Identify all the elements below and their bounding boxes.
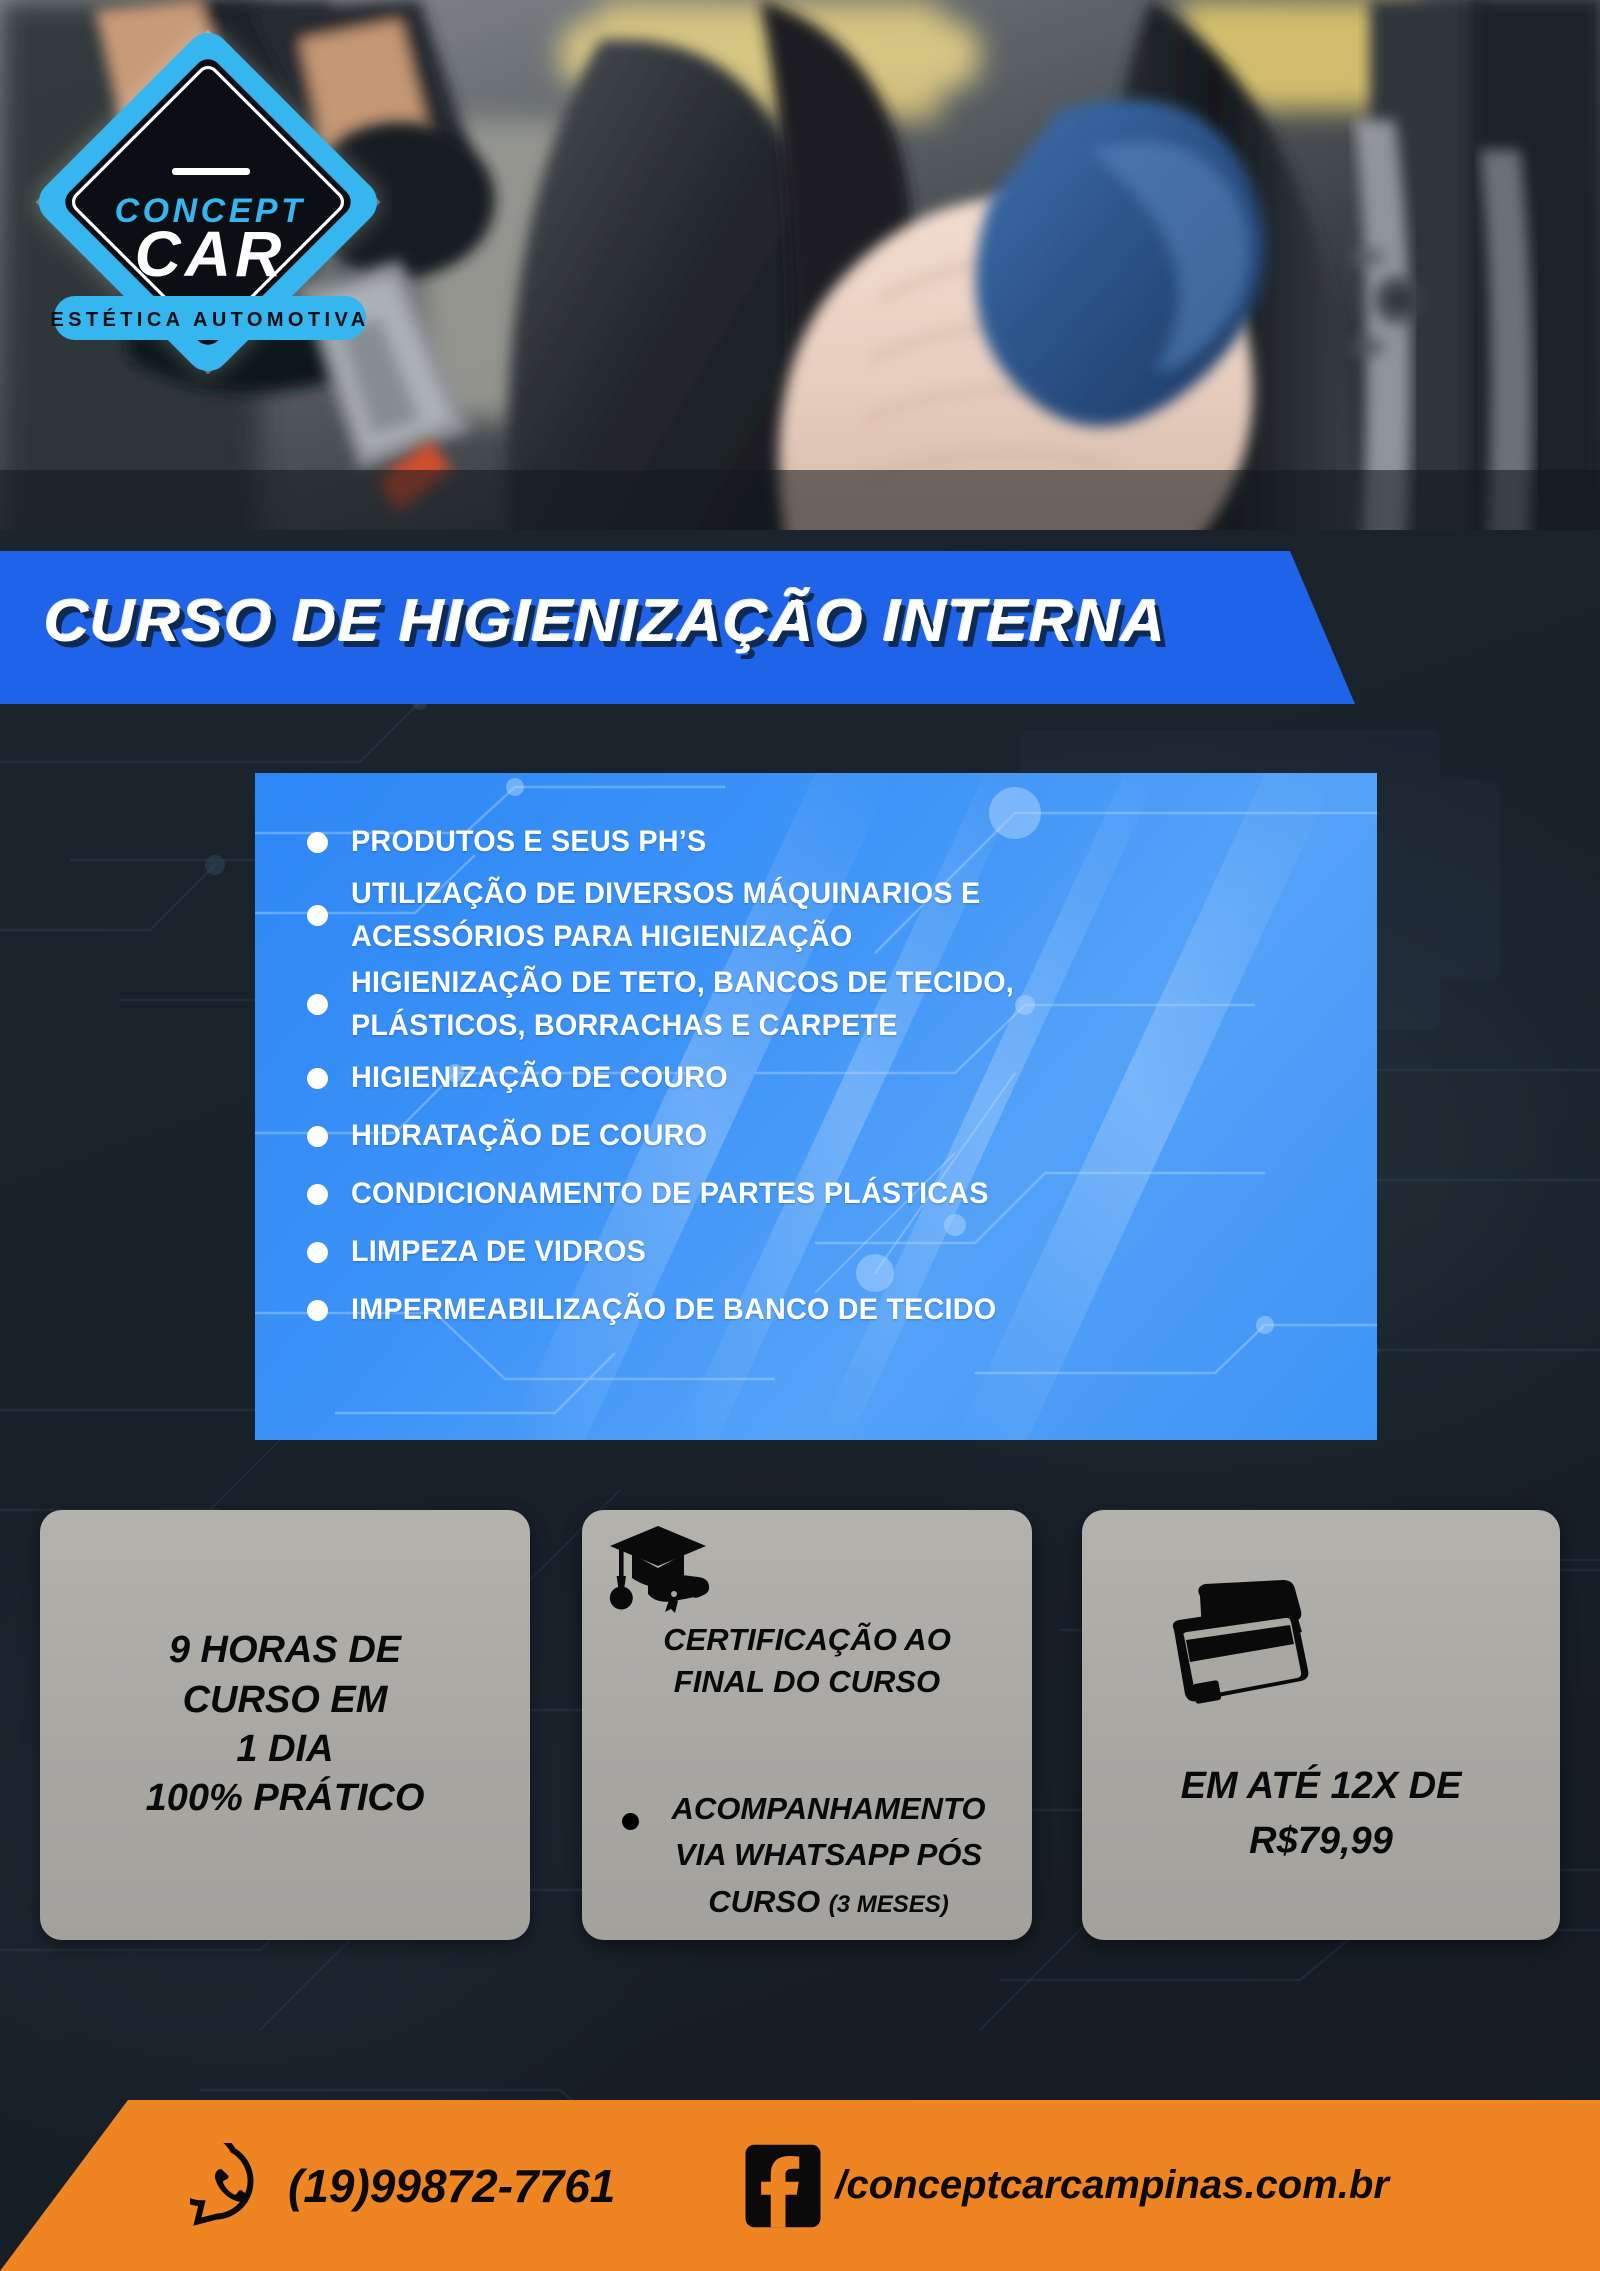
list-item-label: UTILIZAÇÃO DE DIVERSOS MÁQUINARIOS E ACE… — [351, 873, 1052, 958]
bullet-dot-icon — [307, 1068, 328, 1089]
duration-line-4: 100% PRÁTICO — [146, 1774, 425, 1823]
bullet-dot-icon — [307, 905, 328, 926]
whatsapp-contact[interactable]: (19)99872-7761 — [190, 2143, 615, 2229]
facebook-contact[interactable]: /conceptcarcampinas.com.br — [743, 2142, 1389, 2230]
flyer-root: CONCEPT CAR ESTÉTICA AUTOMOTIVA — [0, 0, 1600, 2271]
whatsapp-support-text-col: ACOMPANHAMENTO VIA WHATSAPP PÓS CURSO (3… — [639, 1783, 1018, 1922]
logo-tagline-text: ESTÉTICA AUTOMOTIVA — [50, 308, 369, 331]
contact-footer: (19)99872-7761 /conceptcarcampinas.com.b… — [0, 2100, 1600, 2271]
certification-text-col: CERTIFICAÇÃO AO FINAL DO CURSO — [663, 1618, 951, 1777]
list-item: LIMPEZA DE VIDROS — [283, 1225, 1331, 1279]
credit-cards-icon — [1164, 1578, 1328, 1734]
support-line-2: VIA WHATSAPP PÓS — [675, 1835, 982, 1875]
card-course-duration: 9 HORAS DE CURSO EM 1 DIA 100% PRÁTICO — [40, 1510, 530, 1940]
course-title-text: CURSO DE HIGIENIZAÇÃO INTERNA — [44, 587, 1167, 655]
list-item: HIGIENIZAÇÃO DE COURO — [283, 1051, 1331, 1105]
list-item: IMPERMEABILIZAÇÃO DE BANCO DE TECIDO — [283, 1283, 1331, 1337]
bullet-dot-icon — [307, 832, 328, 853]
support-line-3: CURSO (3 MESES) — [708, 1882, 949, 1922]
list-item-label: IMPERMEABILIZAÇÃO DE BANCO DE TECIDO — [351, 1289, 996, 1332]
card-certification: CERTIFICAÇÃO AO FINAL DO CURSO ACOMPANHA… — [582, 1510, 1032, 1940]
logo-car-text: CAR — [135, 218, 286, 290]
duration-line-1: 9 HORAS DE — [169, 1626, 401, 1675]
list-item-label: LIMPEZA DE VIDROS — [351, 1231, 646, 1274]
list-item-label: HIGIENIZAÇÃO DE COURO — [351, 1057, 728, 1100]
list-item-label: PRODUTOS E SEUS PH’S — [351, 821, 706, 864]
logo-art: CONCEPT CAR ESTÉTICA AUTOMOTIVA — [24, 18, 392, 386]
certification-icon-row — [596, 1520, 1018, 1616]
list-item: CONDICIONAMENTO DE PARTES PLÁSTICAS — [283, 1167, 1331, 1221]
phone-number[interactable]: (19)99872-7761 — [288, 2159, 615, 2213]
card-payment: EM ATÉ 12X DE R$79,99 — [1082, 1510, 1560, 1940]
bullet-dot-icon — [307, 1300, 328, 1321]
list-item-label: CONDICIONAMENTO DE PARTES PLÁSTICAS — [351, 1173, 989, 1216]
certification-head-2: FINAL DO CURSO — [674, 1662, 940, 1702]
payment-line-1: EM ATÉ 12X DE — [1181, 1762, 1462, 1811]
duration-line-2: CURSO EM — [183, 1676, 388, 1725]
bullet-dot-icon — [307, 1126, 328, 1147]
list-item-label: HIDRATAÇÃO DE COURO — [351, 1115, 707, 1158]
list-item-label: HIGIENIZAÇÃO DE TETO, BANCOS DE TECIDO, … — [351, 962, 1052, 1047]
course-title-banner: CURSO DE HIGIENIZAÇÃO INTERNA — [0, 551, 1355, 704]
payment-line-2: R$79,99 — [1249, 1817, 1393, 1866]
bullet-dot-icon — [307, 1184, 328, 1205]
support-duration-note: (3 MESES) — [829, 1891, 949, 1918]
bullet-dot-icon — [307, 1242, 328, 1263]
list-item: UTILIZAÇÃO DE DIVERSOS MÁQUINARIOS E ACE… — [283, 873, 1331, 958]
duration-line-3: 1 DIA — [236, 1725, 333, 1774]
concept-car-logo: CONCEPT CAR ESTÉTICA AUTOMOTIVA — [24, 18, 392, 386]
syllabus-list: PRODUTOS E SEUS PH’S UTILIZAÇÃO DE DIVER… — [283, 815, 1331, 1337]
certification-head-1: CERTIFICAÇÃO AO — [663, 1620, 951, 1660]
bullet-dot-icon — [307, 994, 328, 1015]
facebook-icon[interactable] — [743, 2142, 823, 2230]
syllabus-list-wrap: PRODUTOS E SEUS PH’S UTILIZAÇÃO DE DIVER… — [255, 773, 1377, 1440]
footer-content: (19)99872-7761 /conceptcarcampinas.com.b… — [0, 2100, 1600, 2271]
feature-cards: 9 HORAS DE CURSO EM 1 DIA 100% PRÁTICO — [0, 1510, 1600, 1940]
support-line-3-main: CURSO — [708, 1884, 820, 1919]
list-item: PRODUTOS E SEUS PH’S — [283, 815, 1331, 869]
syllabus-box: PRODUTOS E SEUS PH’S UTILIZAÇÃO DE DIVER… — [255, 773, 1377, 1440]
list-item: HIDRATAÇÃO DE COURO — [283, 1109, 1331, 1163]
graduation-cap-diploma-icon — [606, 1520, 712, 1616]
bullet-dot-icon — [622, 1813, 639, 1830]
support-line-1: ACOMPANHAMENTO — [671, 1789, 985, 1829]
list-item: HIGIENIZAÇÃO DE TETO, BANCOS DE TECIDO, … — [283, 962, 1331, 1047]
whatsapp-icon[interactable] — [190, 2143, 276, 2229]
facebook-handle[interactable]: /conceptcarcampinas.com.br — [835, 2163, 1389, 2208]
